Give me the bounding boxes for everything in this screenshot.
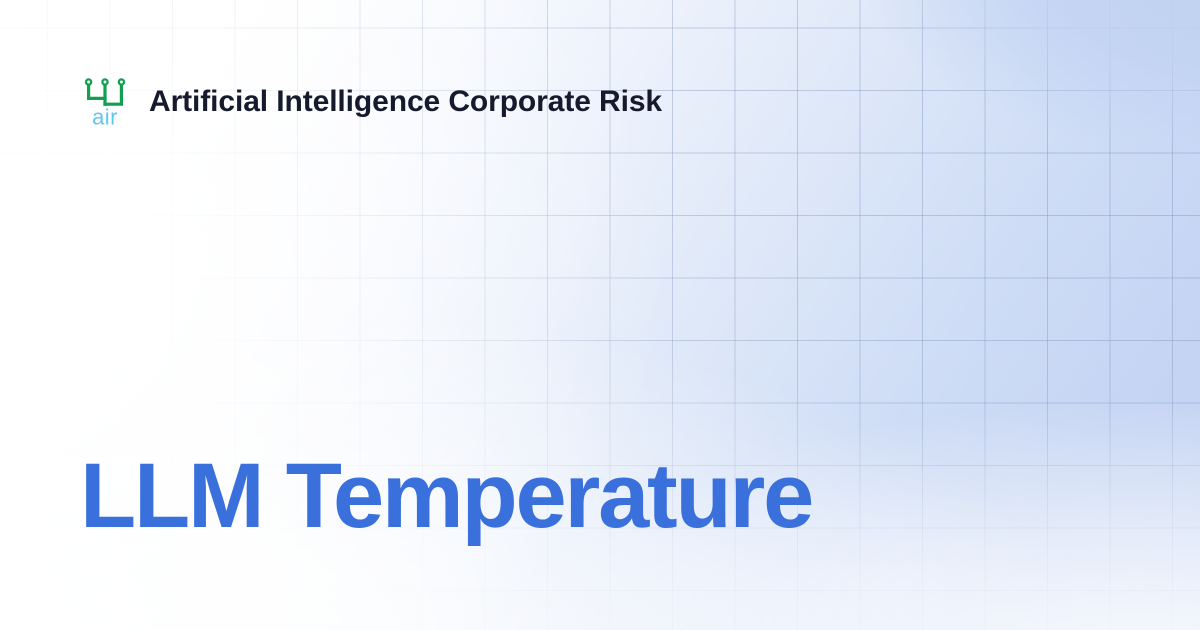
og-banner: air Artificial Intelligence Corporate Ri… xyxy=(0,0,1200,630)
brand-lockup: air Artificial Intelligence Corporate Ri… xyxy=(82,76,662,126)
logo-wordmark-text: air xyxy=(92,105,118,127)
air-circuit-logo-icon: air xyxy=(82,76,128,126)
brand-title: Artificial Intelligence Corporate Risk xyxy=(149,87,662,117)
page-title: LLM Temperature xyxy=(80,448,1120,546)
